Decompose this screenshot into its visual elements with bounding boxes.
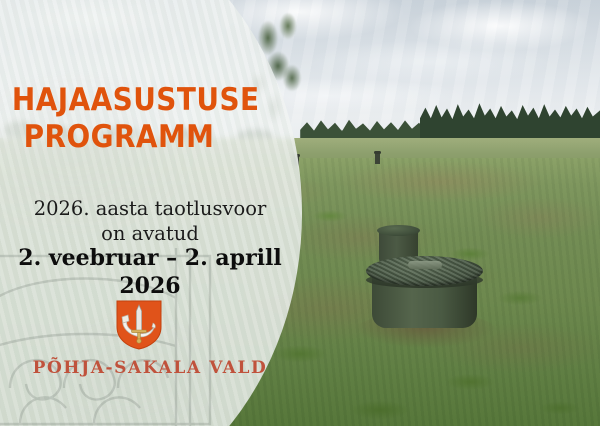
municipality-wordmark: PÕHJA-SAKALA VALD (0, 358, 300, 378)
septic-tank-handle (408, 261, 442, 269)
subtitle-line-2: on avatud (0, 221, 300, 246)
application-period: 2. veebruar – 2. aprill 2026 (0, 244, 300, 300)
small-tank-lid (377, 225, 420, 236)
title-line-1: HAJAASUSTUSE (12, 82, 226, 119)
municipality-logo: PÕHJA-SAKALA VALD (0, 300, 300, 384)
title-line-2: PROGRAMM (12, 119, 226, 156)
poster-canvas: HAJAASUSTUSE PROGRAMM 2026. aasta taotlu… (0, 0, 600, 426)
subtitle-line-1: 2026. aasta taotlusvoor (0, 196, 300, 221)
poster-content: HAJAASUSTUSE PROGRAMM 2026. aasta taotlu… (0, 0, 300, 426)
coat-of-arms-sword-and-hunting-horn-icon (116, 300, 162, 350)
page-title: HAJAASUSTUSE PROGRAMM (12, 82, 226, 156)
subtitle: 2026. aasta taotlusvoor on avatud (0, 196, 300, 246)
field-post-icon (375, 153, 380, 164)
